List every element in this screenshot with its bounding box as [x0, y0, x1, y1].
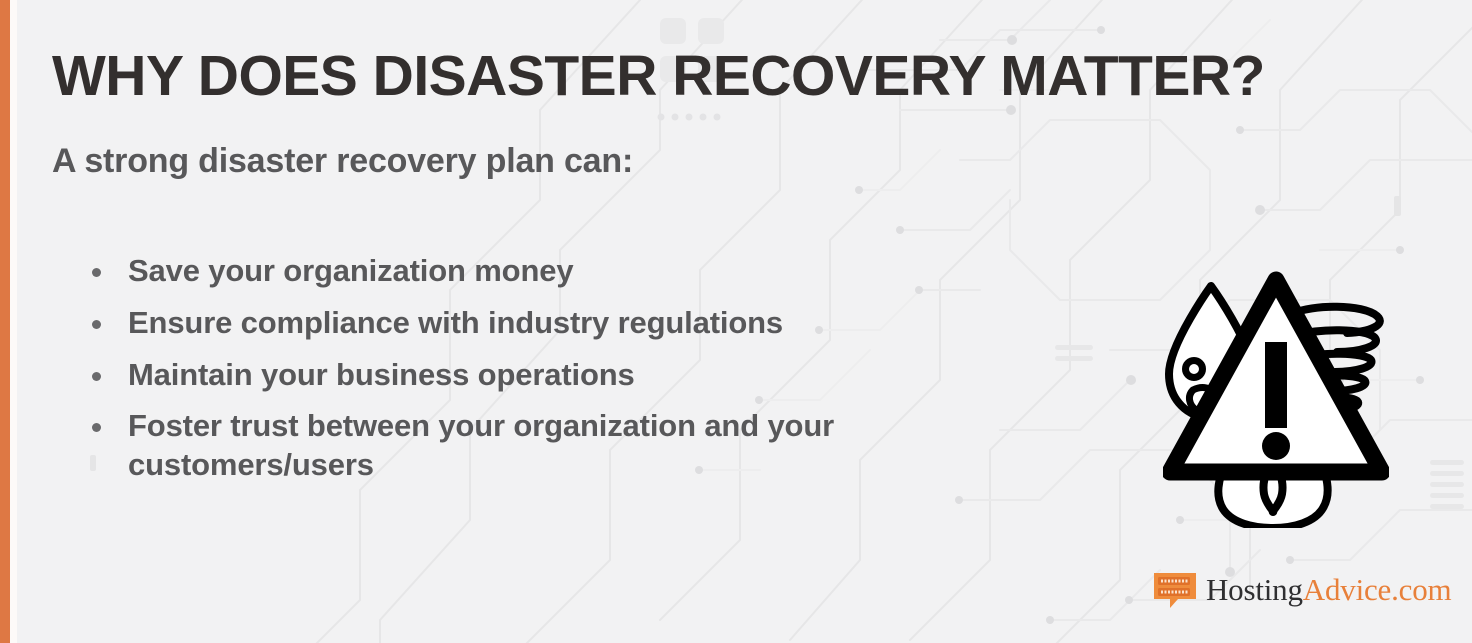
server-rack-speech-bubble-icon: [1152, 569, 1198, 609]
exclamation-mark-icon: [1262, 432, 1290, 460]
logo-text-advice: Advice.com: [1303, 572, 1452, 607]
list-item: Maintain your business operations: [86, 356, 1046, 395]
infographic-slide: WHY DOES DISASTER RECOVERY MATTER? A str…: [0, 0, 1472, 643]
logo-text-hosting: Hosting: [1206, 572, 1303, 607]
left-accent-gap: [10, 0, 17, 643]
list-item: Ensure compliance with industry regulati…: [86, 304, 1046, 343]
subtitle: A strong disaster recovery plan can:: [52, 143, 633, 180]
disaster-hazard-icon: [1163, 266, 1389, 528]
list-item: Save your organization money: [86, 252, 1046, 291]
left-accent-bar: [0, 0, 10, 643]
content-area: WHY DOES DISASTER RECOVERY MATTER? A str…: [0, 0, 1472, 643]
hostingadvice-logo[interactable]: HostingAdvice.com: [1152, 568, 1451, 610]
page-title: WHY DOES DISASTER RECOVERY MATTER?: [52, 48, 1392, 105]
list-item: Foster trust between your organization a…: [86, 407, 1046, 485]
logo-wordmark: HostingAdvice.com: [1206, 574, 1451, 605]
benefits-list: Save your organization money Ensure comp…: [86, 252, 1046, 498]
